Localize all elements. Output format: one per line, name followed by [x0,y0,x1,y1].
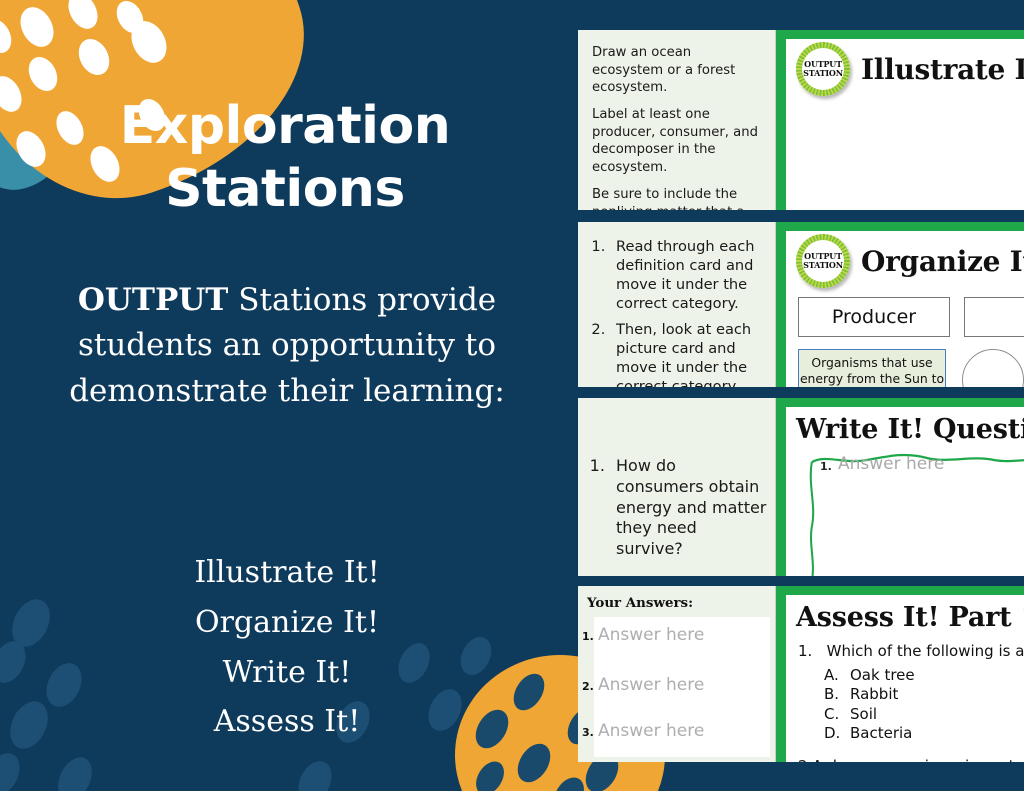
assess-answers-header: Your Answers: [578,586,775,611]
choice-text: Oak tree [850,666,915,684]
assess-choice[interactable]: D.Bacteria [824,724,1024,744]
station-list: Illustrate It! Organize It! Write It! As… [22,548,552,747]
organize-card-title: Organize It! [861,245,1024,278]
assess-choice[interactable]: B.Rabbit [824,685,1024,705]
assess-choice[interactable]: A.Oak tree [824,666,1024,686]
assess-card-title: Assess It! Part 1 [786,586,1024,633]
page-title-line-2: Stations [0,158,570,221]
assess-answer-placeholder[interactable]: Answer here [598,721,704,741]
page-title-line-1: Exploration [0,95,570,158]
assess-question-line: 1. Which of the following is a [798,641,1024,662]
assess-choice[interactable]: C.Soil [824,705,1024,725]
write-answer-number: 1. [820,460,832,473]
slide-card-illustrate[interactable]: Draw an ocean ecosystem or a forest ecos… [578,30,1024,210]
illustrate-heading-row: OUTPUT STATION Illustrate It! [786,30,1024,96]
organize-category-row: Producer C [786,288,1024,337]
intro-paragraph: OUTPUT Stations provide students an oppo… [22,278,552,414]
page-title: Exploration Stations [0,95,570,222]
assess-answer-number: 1. [582,630,598,643]
assess-answers-panel: Your Answers: 1. Answer here 2. Answer h… [578,586,776,762]
station-list-item: Write It! [22,648,552,698]
station-list-item: Illustrate It! [22,548,552,598]
illustrate-instruction-1: Draw an ocean ecosystem or a forest ecos… [592,44,763,97]
assess-answer-number: 2. [582,680,598,693]
choice-text: Rabbit [850,685,898,703]
organize-heading-row: OUTPUT STATION Organize It! [786,222,1024,288]
choice-letter: B. [824,685,850,705]
assess-question-text: Which of the following is a [827,642,1024,660]
choice-text: Soil [850,705,877,723]
organize-instructions-panel: Read through each definition card and mo… [578,222,776,387]
assess-answer-row[interactable]: 2. Answer here [582,675,704,695]
write-instructions-panel: How do consumers obtain energy and matte… [578,398,776,576]
badge-line-2: STATION [803,69,843,78]
organize-slide-body: OUTPUT STATION Organize It! Producer C O… [776,222,1024,387]
output-station-seal-icon: OUTPUT STATION [796,234,850,288]
illustrate-instruction-2: Label at least one producer, consumer, a… [592,106,763,177]
organize-definition-row: Organisms that use energy from the Sun t… [786,337,1024,387]
choice-letter: A. [824,666,850,686]
assess-answer-sheet: 1. Answer here 2. Answer here 3. Answer … [594,617,770,757]
slide-thumbnail-column: Draw an ocean ecosystem or a forest ecos… [578,0,1024,791]
assess-answer-row[interactable]: 1. Answer here [582,625,704,645]
left-text-column: Exploration Stations OUTPUT Stations pro… [0,0,570,791]
slide-card-assess[interactable]: Your Answers: 1. Answer here 2. Answer h… [578,586,1024,762]
assess-answer-number: 3. [582,726,598,739]
assess-answer-placeholder[interactable]: Answer here [598,625,704,645]
choice-letter: C. [824,705,850,725]
illustrate-instruction-3: Be sure to include the nonliving matter … [592,186,763,210]
illustrate-slide-body: OUTPUT STATION Illustrate It! [776,30,1024,210]
write-answer-placeholder[interactable]: Answer here [838,454,944,474]
illustrate-instructions-panel: Draw an ocean ecosystem or a forest ecos… [578,30,776,210]
presentation-slide: Exploration Stations OUTPUT Stations pro… [0,0,1024,791]
choice-text: Bacteria [850,724,912,742]
write-slide-body: Write It! Question 1. Answer here [776,398,1024,576]
illustrate-card-title: Illustrate It! [861,53,1024,86]
assess-next-question: 2 A decomposer is an import [798,756,1024,762]
organize-step-2: Then, look at each picture card and move… [610,321,767,387]
intro-bold-word: OUTPUT [78,282,229,318]
picture-card-oval[interactable] [962,349,1024,387]
assess-question-block: 1. Which of the following is a A.Oak tre… [786,633,1024,762]
station-list-item: Assess It! [22,697,552,747]
definition-card[interactable]: Organisms that use energy from the Sun t… [798,349,946,387]
assess-question-number: 1. [798,642,812,660]
output-station-seal-icon: OUTPUT STATION [796,42,850,96]
write-question-prompt: How do consumers obtain energy and matte… [610,456,767,560]
slide-card-write[interactable]: How do consumers obtain energy and matte… [578,398,1024,576]
choice-letter: D. [824,724,850,744]
assess-choice-list: A.Oak tree B.Rabbit C.Soil D.Bacteria [798,666,1024,744]
assess-slide-body: Assess It! Part 1 1. Which of the follow… [776,586,1024,762]
assess-answer-placeholder[interactable]: Answer here [598,675,704,695]
category-box-producer[interactable]: Producer [798,297,950,337]
category-box-consumer[interactable]: C [964,297,1024,337]
write-card-title: Write It! Question [786,398,1024,445]
assess-answer-row[interactable]: 3. Answer here [582,721,704,741]
badge-line-2: STATION [803,261,843,270]
station-list-item: Organize It! [22,598,552,648]
slide-card-organize[interactable]: Read through each definition card and mo… [578,222,1024,387]
organize-step-1: Read through each definition card and mo… [610,238,767,314]
